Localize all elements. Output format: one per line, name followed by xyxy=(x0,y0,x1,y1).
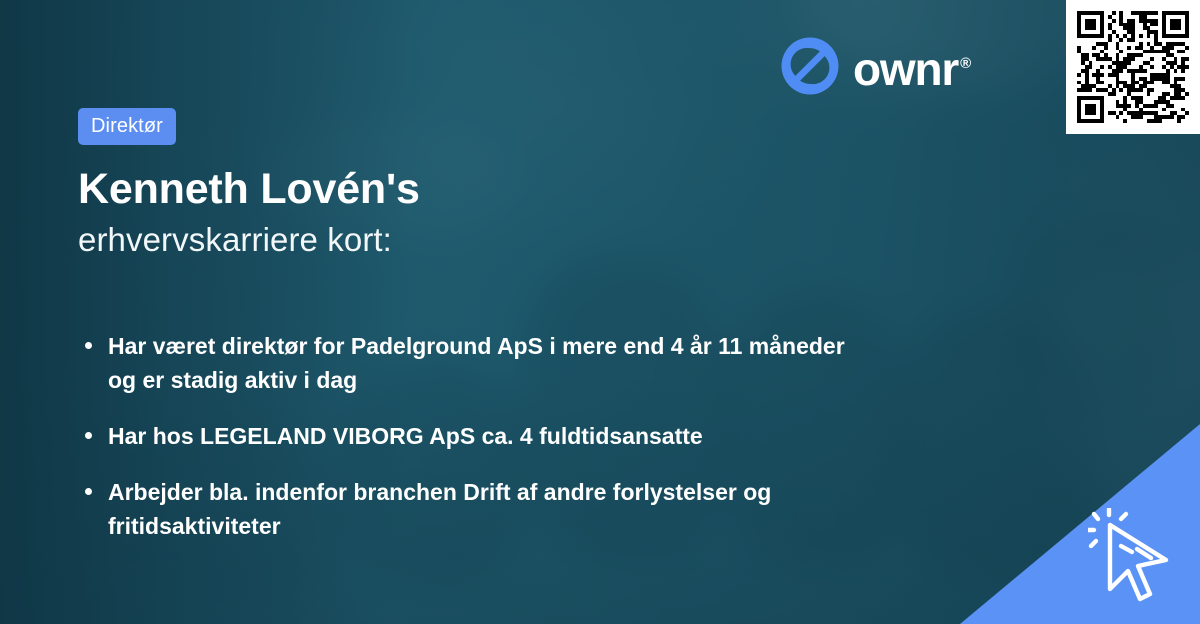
qr-code-icon[interactable] xyxy=(1077,11,1189,123)
click-cursor-icon xyxy=(1088,508,1180,613)
page-subtitle: erhvervskarriere kort: xyxy=(78,221,878,259)
ownr-wordmark: ownr® xyxy=(853,46,971,92)
page-title: Kenneth Lovén's xyxy=(78,167,878,213)
ownr-logo: ownr® xyxy=(780,36,971,101)
career-fact-item: Har hos LEGELAND VIBORG ApS ca. 4 fuldti… xyxy=(78,419,868,453)
registered-trademark-icon: ® xyxy=(960,55,971,72)
ownr-circle-swirl-icon xyxy=(780,36,840,101)
card-content: Direktør Kenneth Lovén's erhvervskarrier… xyxy=(78,108,878,543)
career-fact-item: Arbejder bla. indenfor branchen Drift af… xyxy=(78,475,868,543)
ownr-wordmark-text: ownr xyxy=(853,43,958,95)
role-badge: Direktør xyxy=(78,108,176,145)
career-facts-list: Har været direktør for Padelground ApS i… xyxy=(78,329,868,543)
qr-code-panel[interactable] xyxy=(1066,0,1200,134)
career-fact-item: Har været direktør for Padelground ApS i… xyxy=(78,329,868,397)
career-card: ownr® Direktør Kenneth Lovén's erhvervsk… xyxy=(0,0,1200,624)
bullet-dot-icon xyxy=(85,432,92,439)
bullet-dot-icon xyxy=(85,488,92,495)
career-fact-text: Har været direktør for Padelground ApS i… xyxy=(108,333,845,393)
bullet-dot-icon xyxy=(85,342,92,349)
career-fact-text: Arbejder bla. indenfor branchen Drift af… xyxy=(108,479,771,539)
career-fact-text: Har hos LEGELAND VIBORG ApS ca. 4 fuldti… xyxy=(108,423,703,449)
